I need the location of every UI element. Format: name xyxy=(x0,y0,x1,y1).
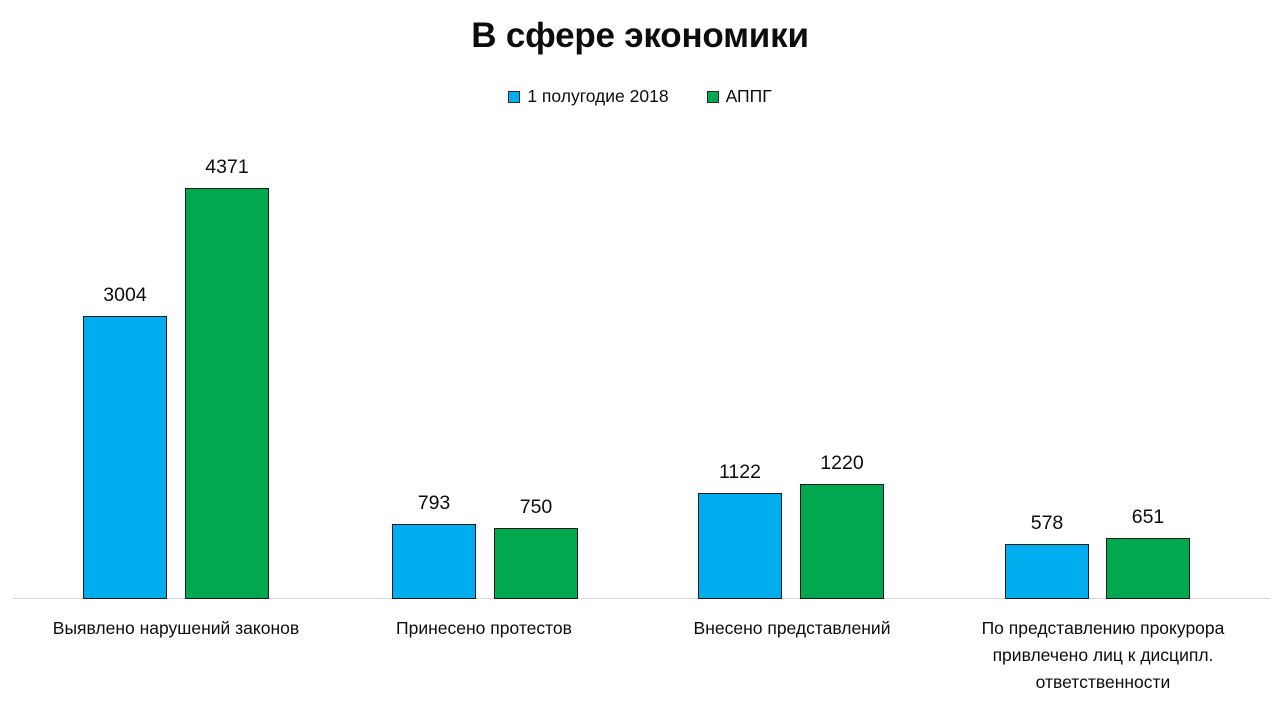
bar-value-group3-series-b: 1220 xyxy=(800,451,884,475)
bar-group2-series-a[interactable] xyxy=(392,524,476,599)
category-label-2: Принесено протестов xyxy=(338,615,630,642)
bar-group4-series-b[interactable] xyxy=(1106,538,1190,599)
plot-area: 3004 4371 793 750 1122 1220 578 651 Выяв… xyxy=(0,0,1280,720)
category-label-1: Выявлено нарушений законов xyxy=(30,615,322,642)
bar-value-group1-series-a: 3004 xyxy=(83,283,167,307)
bar-group2-series-b[interactable] xyxy=(494,528,578,599)
category-label-3: Внесено представлений xyxy=(646,615,938,642)
bar-group4-series-a[interactable] xyxy=(1005,544,1089,599)
bar-group1-series-b[interactable] xyxy=(185,188,269,599)
bar-value-group4-series-a: 578 xyxy=(1005,511,1089,535)
bar-chart: В сфере экономики 1 полугодие 2018 АППГ … xyxy=(0,0,1280,720)
category-label-4: По представлению прокурора привлечено ли… xyxy=(948,615,1258,696)
bar-value-group2-series-a: 793 xyxy=(392,491,476,515)
bar-group1-series-a[interactable] xyxy=(83,316,167,599)
bar-value-group2-series-b: 750 xyxy=(494,495,578,519)
bar-group3-series-b[interactable] xyxy=(800,484,884,599)
bar-value-group1-series-b: 4371 xyxy=(185,155,269,179)
bar-value-group3-series-a: 1122 xyxy=(698,460,782,484)
bar-group3-series-a[interactable] xyxy=(698,493,782,599)
bar-value-group4-series-b: 651 xyxy=(1106,505,1190,529)
